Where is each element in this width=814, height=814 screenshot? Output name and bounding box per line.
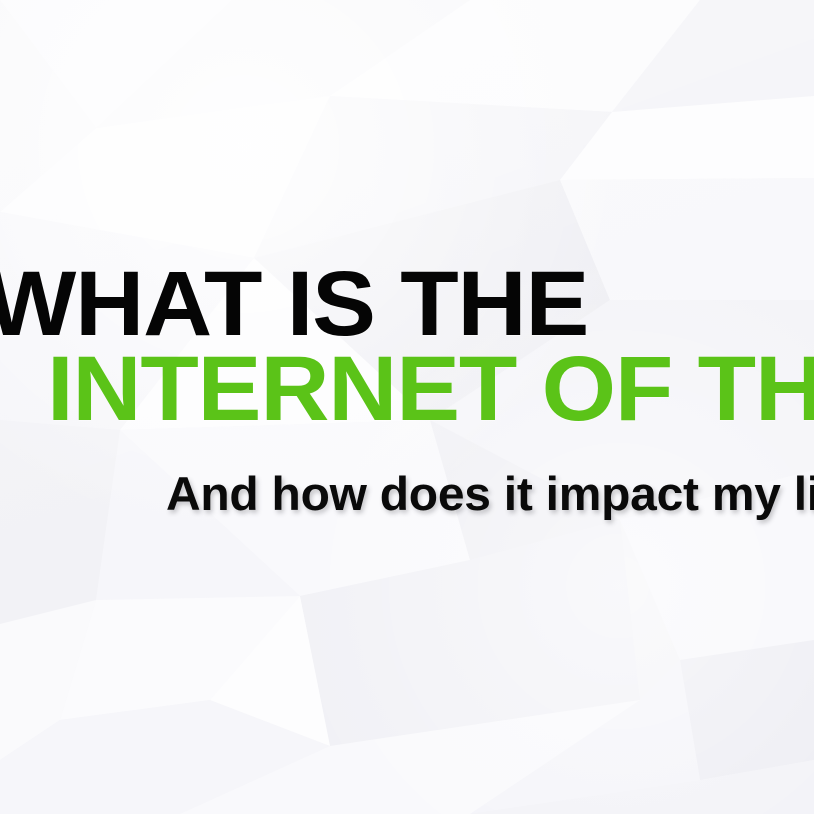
- headline-line-1: WHAT IS THE: [0, 258, 588, 350]
- headline-line-2-accent: INTERNET OF THINGS: [47, 343, 814, 435]
- background-facet: [680, 640, 814, 780]
- slide-subtitle: And how does it impact my life?: [166, 470, 814, 517]
- title-slide: WHAT IS THE INTERNET OF THINGS And how d…: [0, 0, 814, 814]
